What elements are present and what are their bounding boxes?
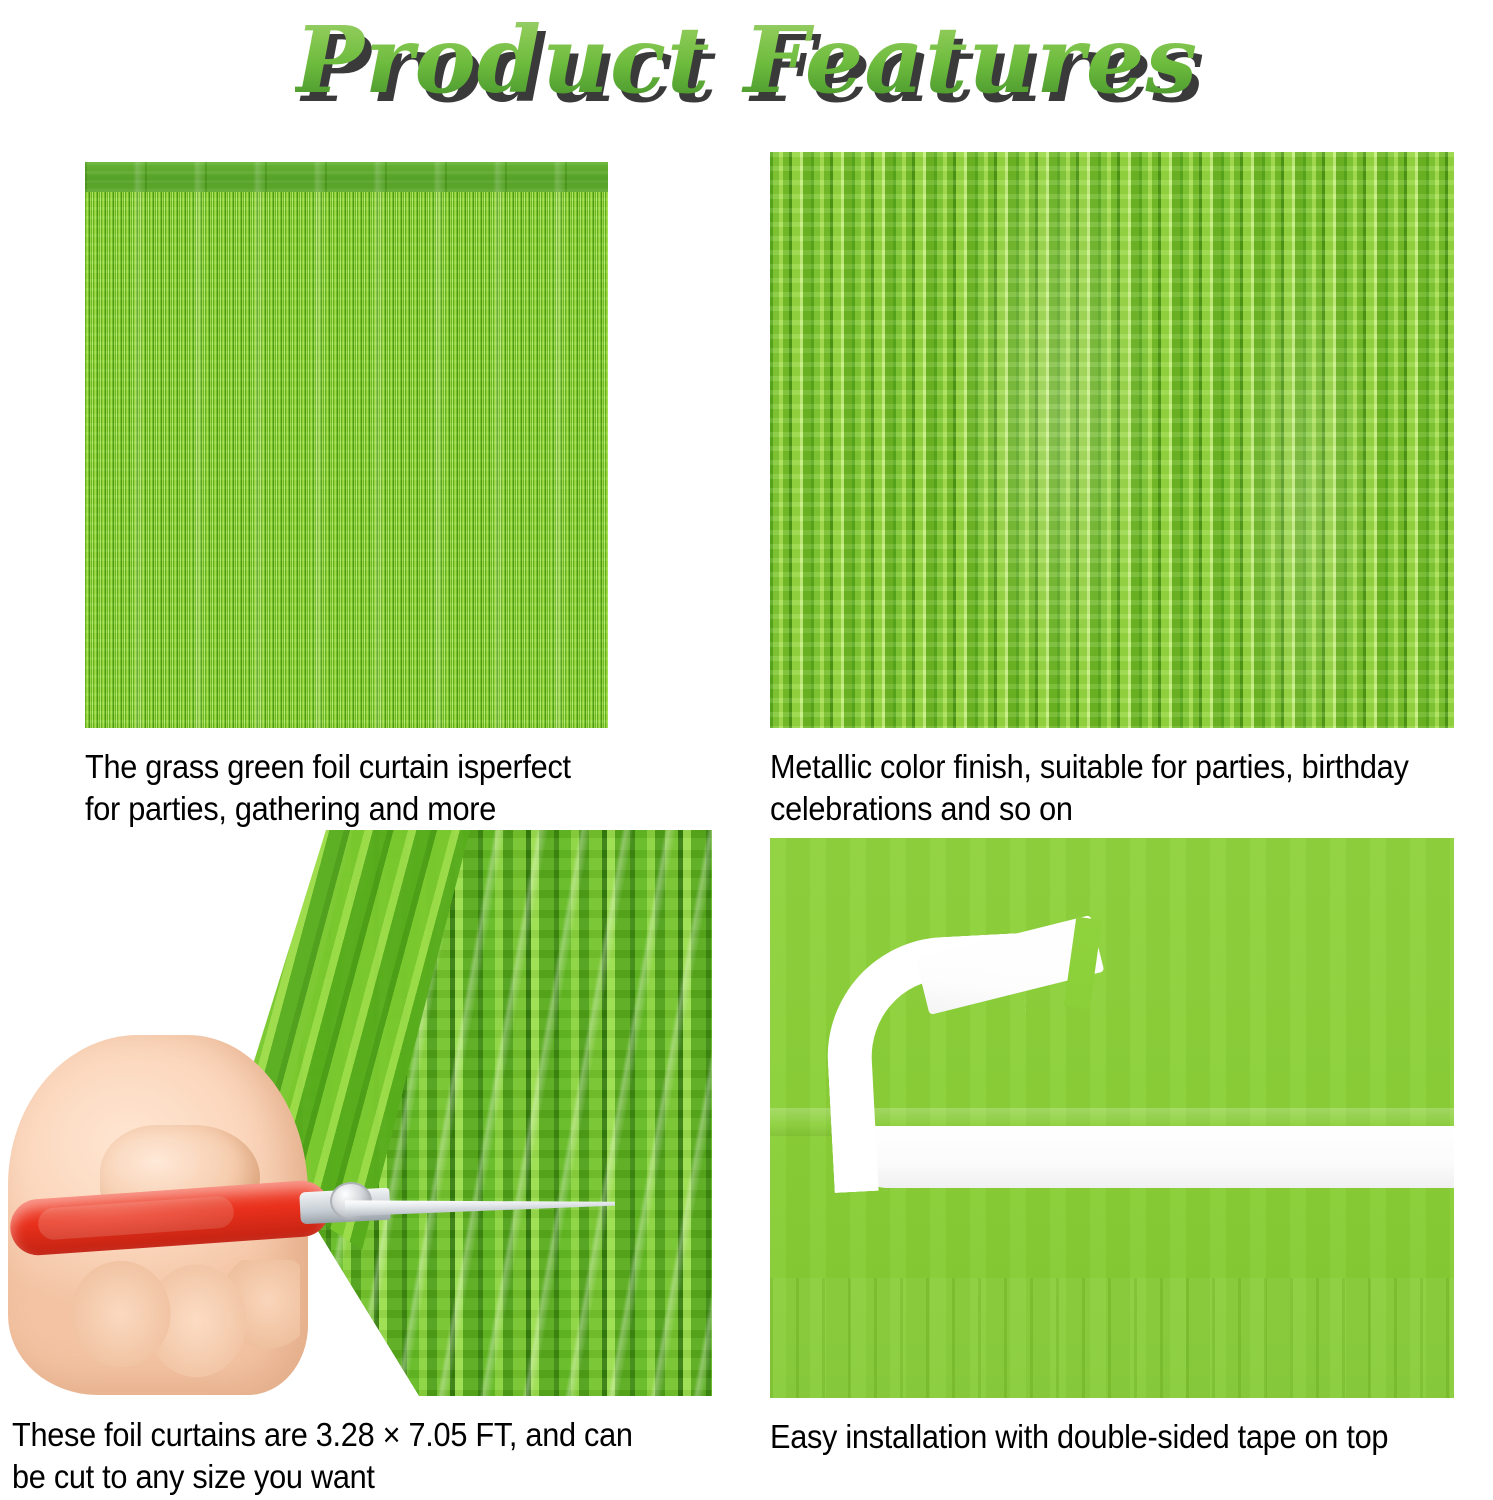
title-stack: Product Features Product Features <box>295 12 1198 109</box>
feature-image-double-sided-tape-on-curtain-top <box>770 838 1454 1398</box>
feature-caption-2: Metallic color finish, suitable for part… <box>770 746 1458 830</box>
feature-image-green-foil-curtain-full-view <box>85 162 608 728</box>
curtain-header-band-icon <box>85 162 608 192</box>
feature-cell-1: The grass green foil curtain isperfect f… <box>85 162 610 830</box>
feature-cell-4: Easy installation with double-sided tape… <box>770 838 1455 1458</box>
feature-caption-1: The grass green foil curtain isperfect f… <box>85 746 606 830</box>
curtain-closeup-strips <box>770 152 1454 728</box>
fingers-icon <box>70 1260 300 1395</box>
feature-cell-2: Metallic color finish, suitable for part… <box>770 152 1455 830</box>
feature-image-cutting-foil-curtain-with-scissors <box>0 830 712 1396</box>
page-title-text: Product Features <box>295 12 1198 109</box>
page-title: Product Features Product Features <box>0 0 1493 120</box>
foil-bottom-creases <box>770 1278 1454 1398</box>
feature-caption-3: These foil curtains are 3.28 × 7.05 FT, … <box>12 1414 663 1498</box>
feature-image-green-foil-curtain-closeup <box>770 152 1454 728</box>
feature-caption-4: Easy installation with double-sided tape… <box>770 1416 1458 1458</box>
feature-cell-3: These foil curtains are 3.28 × 7.05 FT, … <box>0 830 712 1498</box>
curtain-fringe-strips <box>85 190 608 728</box>
